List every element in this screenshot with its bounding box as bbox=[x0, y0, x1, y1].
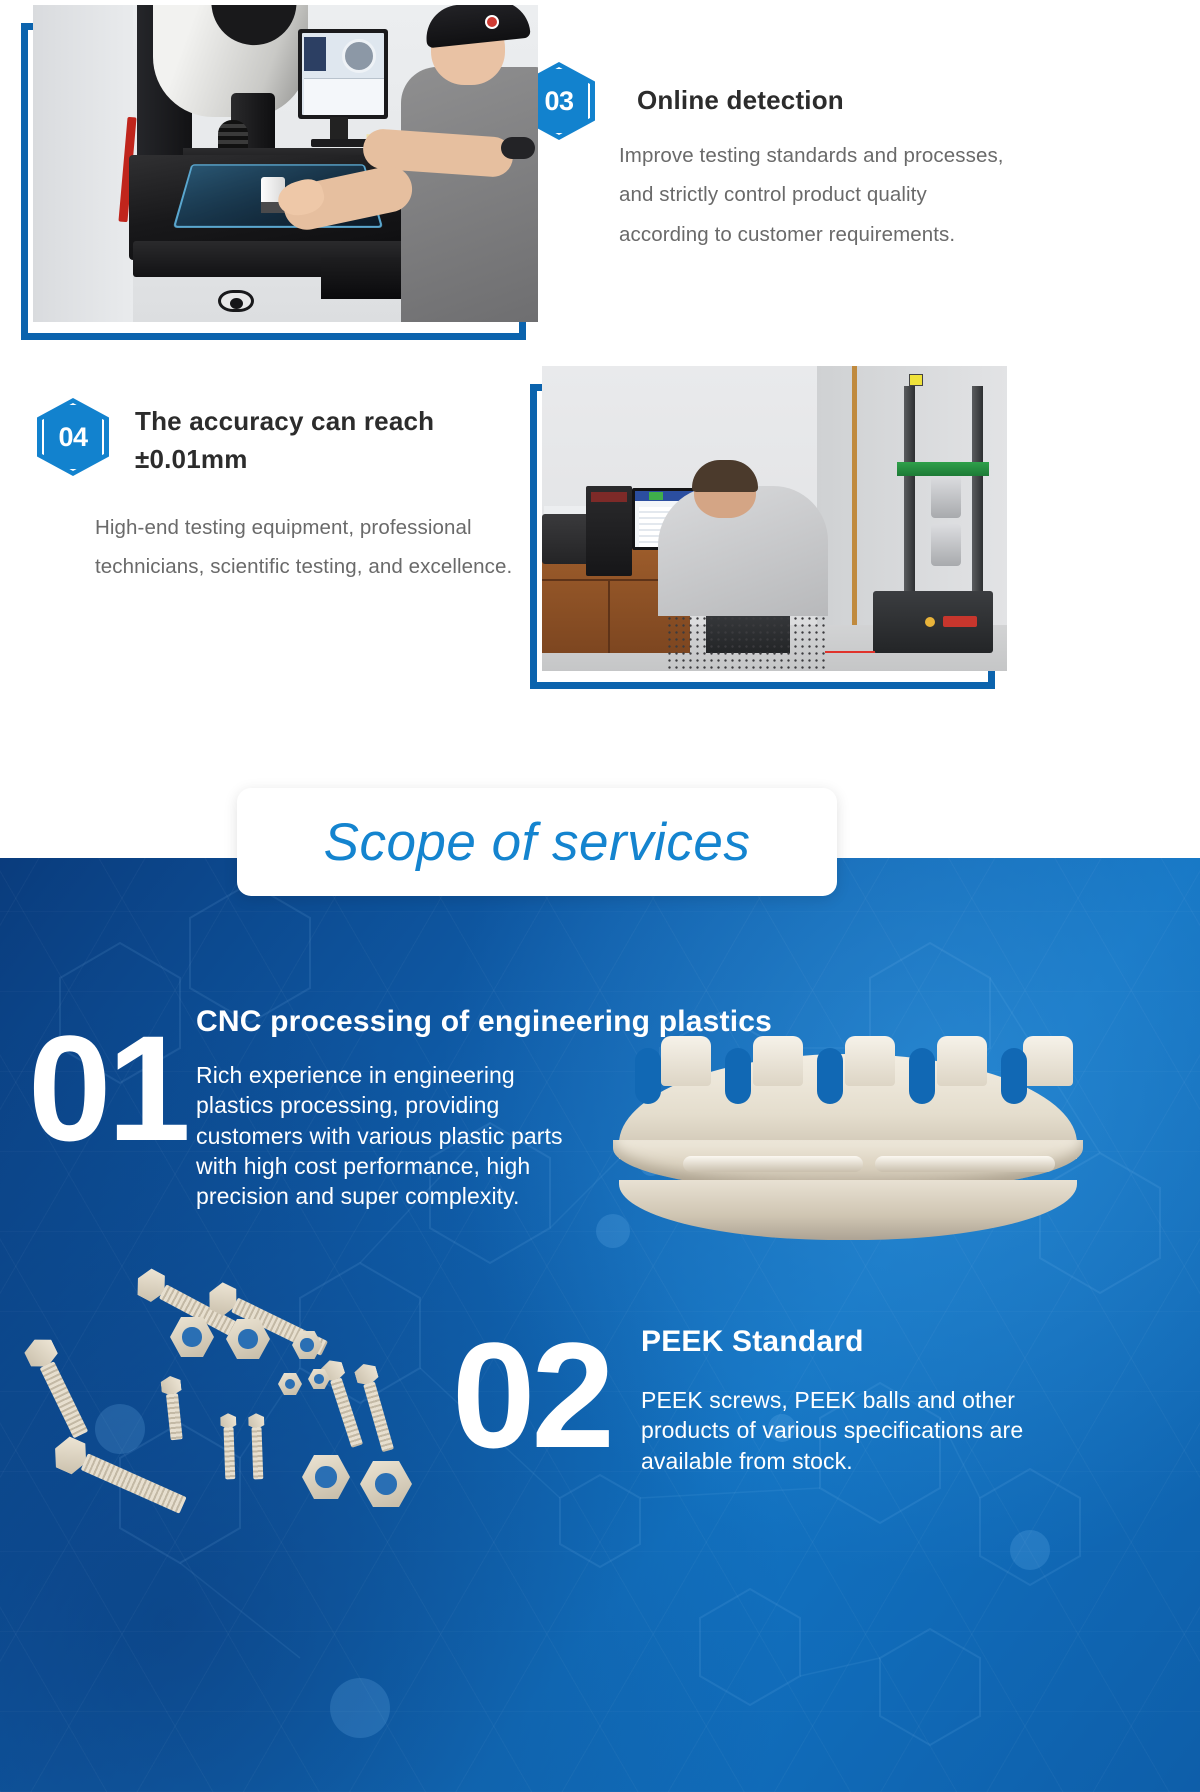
badge-number-04: 04 bbox=[58, 422, 87, 453]
cap-logo bbox=[485, 15, 499, 29]
nut-hole bbox=[238, 1329, 257, 1348]
peek-nut bbox=[302, 1455, 350, 1499]
software-panel bbox=[304, 37, 326, 71]
part-tooth bbox=[937, 1036, 987, 1086]
part-notch bbox=[817, 1048, 843, 1104]
warning-sign bbox=[909, 374, 923, 386]
part-tooth bbox=[845, 1036, 895, 1086]
monitor-stand bbox=[330, 117, 348, 141]
peek-screws-image bbox=[40, 1265, 460, 1540]
part-groove bbox=[683, 1156, 863, 1172]
nut-hole bbox=[314, 1374, 324, 1384]
features-section: VML300 03 Online det bbox=[0, 0, 1200, 858]
nut-hole bbox=[375, 1473, 398, 1495]
service-title-02: PEEK Standard bbox=[641, 1325, 1061, 1359]
part-tooth bbox=[661, 1036, 711, 1086]
monitor bbox=[298, 29, 388, 119]
operator-cap bbox=[423, 5, 531, 48]
bolt-shank bbox=[166, 1393, 183, 1440]
bolt-shank bbox=[330, 1378, 363, 1448]
part-groove bbox=[875, 1156, 1055, 1172]
part-notch bbox=[725, 1048, 751, 1104]
tester-button bbox=[925, 617, 935, 627]
service-title-01: CNC processing of engineering plastics bbox=[196, 1005, 936, 1039]
app-toolbar-highlight bbox=[649, 492, 663, 500]
tester-grip-upper bbox=[931, 476, 961, 518]
service-number-01: 01 bbox=[28, 1013, 187, 1163]
accuracy-photo bbox=[542, 366, 1007, 671]
monitor-base bbox=[311, 139, 369, 147]
bolt-shank bbox=[81, 1453, 187, 1513]
part-tooth bbox=[1023, 1036, 1073, 1086]
tester-grip-lower bbox=[931, 524, 961, 566]
nut-hole bbox=[300, 1338, 313, 1351]
measured-part-view bbox=[342, 39, 376, 73]
computer-mouse bbox=[501, 137, 535, 159]
part-tooth bbox=[753, 1036, 803, 1086]
operator-torso bbox=[401, 67, 538, 322]
printer bbox=[542, 514, 592, 564]
nut-hole bbox=[285, 1379, 296, 1390]
peek-machined-part-image bbox=[613, 1028, 1083, 1258]
laser-line bbox=[825, 651, 875, 653]
badge-inner-04: 04 bbox=[42, 403, 104, 471]
tester-column-left bbox=[904, 386, 915, 611]
scope-banner-card: Scope of services bbox=[237, 788, 837, 896]
decorative-dot bbox=[1010, 1530, 1050, 1570]
online-detection-photo: VML300 bbox=[33, 5, 538, 322]
part-notch bbox=[635, 1048, 661, 1104]
service-number-02: 02 bbox=[452, 1320, 611, 1470]
peek-nut bbox=[360, 1461, 412, 1507]
cabinet-door-seam bbox=[608, 579, 610, 653]
part-notch bbox=[1001, 1048, 1027, 1104]
handwheel bbox=[218, 290, 254, 312]
peek-nut bbox=[278, 1373, 302, 1395]
badge-number-03: 03 bbox=[544, 86, 573, 117]
nut-hole bbox=[182, 1327, 201, 1346]
scope-banner-title: Scope of services bbox=[324, 812, 751, 873]
technician-hair bbox=[692, 460, 758, 492]
feature-body-03: Improve testing standards and processes,… bbox=[619, 136, 1019, 254]
photo-image-2 bbox=[542, 366, 1007, 671]
tester-crosshead bbox=[897, 462, 989, 476]
feature-body-04: High-end testing equipment, professional… bbox=[95, 508, 515, 587]
part-band-lower bbox=[619, 1180, 1077, 1240]
bolt-shank bbox=[251, 1427, 263, 1479]
bolt-shank bbox=[223, 1427, 235, 1479]
bolt-shank bbox=[363, 1382, 394, 1453]
nut-hole bbox=[315, 1466, 336, 1487]
software-grid bbox=[304, 78, 384, 115]
part-notch bbox=[909, 1048, 935, 1104]
page-root: VML300 03 Online det bbox=[0, 0, 1200, 1792]
optical-drive bbox=[591, 492, 627, 502]
photo-scene: VML300 bbox=[33, 5, 538, 322]
feature-title-03: Online detection bbox=[637, 82, 1057, 120]
pc-tower bbox=[586, 486, 632, 576]
monitor-screen bbox=[302, 33, 384, 115]
badge-04: 04 bbox=[37, 398, 109, 476]
feature-title-04: The accuracy can reach ±0.01mm bbox=[135, 403, 495, 478]
photo-image-1: VML300 bbox=[33, 5, 538, 322]
service-body-02: PEEK screws, PEEK balls and other produc… bbox=[641, 1385, 1041, 1476]
wall bbox=[33, 5, 133, 322]
photo-scene-2 bbox=[542, 366, 1007, 671]
decorative-dot bbox=[330, 1678, 390, 1738]
tester-column-right bbox=[972, 386, 983, 611]
bolt-shank bbox=[40, 1361, 89, 1438]
service-body-01: Rich experience in engineering plastics … bbox=[196, 1060, 596, 1212]
tester-control-panel bbox=[943, 616, 977, 627]
